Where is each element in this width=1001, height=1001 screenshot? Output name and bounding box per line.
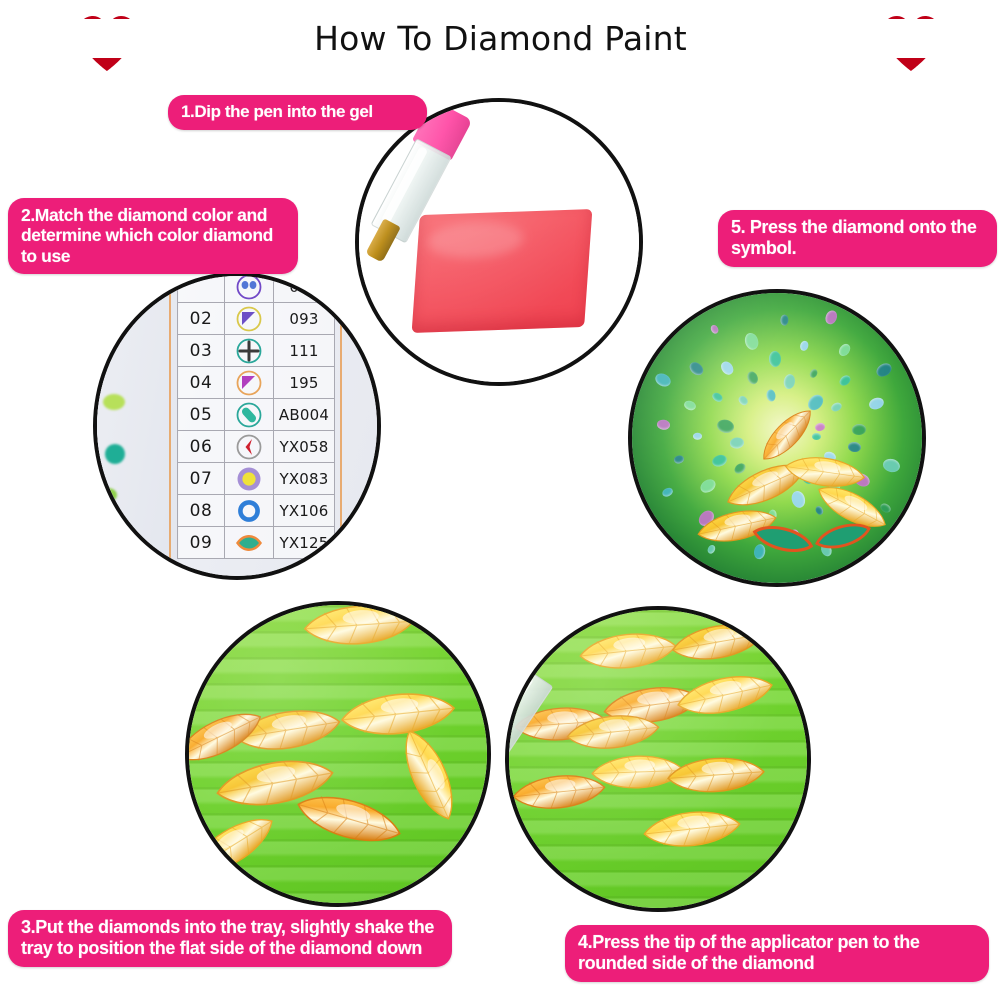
mandala-gem <box>830 401 844 413</box>
mandala-gem <box>653 371 673 389</box>
step-5-photo <box>628 289 926 587</box>
diamond-gem <box>660 748 773 802</box>
mandala-gem <box>882 458 901 474</box>
chart-row-code: 093 <box>274 303 335 335</box>
mandala-gem <box>709 323 719 334</box>
mandala-gem <box>867 396 885 412</box>
step-label-5: 5. Press the diamond onto the symbol. <box>718 210 997 267</box>
mandala-gem <box>719 360 736 377</box>
chart-row-code: AB004 <box>274 399 335 431</box>
color-chart-row: 08YX106 <box>178 495 335 527</box>
mandala-gem <box>783 373 797 390</box>
chart-row-number: 07 <box>178 463 225 495</box>
mandala-gem <box>812 433 821 440</box>
color-chart-sheet: 02002093031110419505AB00406YX05807YX0830… <box>97 276 377 576</box>
chart-row-code: YX058 <box>274 431 335 463</box>
chart-row-code: 111 <box>274 335 335 367</box>
chart-row-number: 08 <box>178 495 225 527</box>
mandala-canvas <box>632 293 922 583</box>
mandala-gem <box>746 370 760 386</box>
canvas-symbol <box>107 534 133 560</box>
color-chart-row: 09YX125 <box>178 527 335 559</box>
chart-guide-line <box>340 276 342 576</box>
mandala-gem <box>838 374 853 389</box>
mandala-gem <box>769 351 782 368</box>
color-chart-row: 06YX058 <box>178 431 335 463</box>
step-label-2: 2.Match the diamond color and determine … <box>8 198 298 274</box>
mandala-gem <box>693 433 702 440</box>
color-chart-row: 020 <box>178 272 335 303</box>
chart-row-number <box>178 272 225 303</box>
chart-row-symbol-donut-filled-circle-icon <box>225 463 274 495</box>
page-title: How To Diamond Paint <box>0 19 1001 58</box>
chart-row-number: 06 <box>178 431 225 463</box>
chart-row-code: YX125 <box>274 527 335 559</box>
chart-row-symbol-filled-triangle-circle-icon <box>225 303 274 335</box>
diamond-gem <box>635 800 749 857</box>
chart-row-code: YX106 <box>274 495 335 527</box>
chart-row-code: YX083 <box>274 463 335 495</box>
diamond-gem <box>289 779 409 859</box>
mandala-gem <box>737 394 749 406</box>
color-chart-row: 03111 <box>178 335 335 367</box>
chart-row-number: 03 <box>178 335 225 367</box>
printed-canvas-edge <box>97 276 179 576</box>
mandala-gem <box>874 361 894 380</box>
chart-row-number: 04 <box>178 367 225 399</box>
color-chart-row: 02093 <box>178 303 335 335</box>
mandala-gem <box>698 477 718 496</box>
mandala-gem-layer <box>632 293 922 583</box>
mandala-leaf <box>812 516 875 557</box>
step-label-1: 1.Dip the pen into the gel <box>168 95 427 130</box>
diamond-tray <box>189 605 487 903</box>
chart-guide-line <box>169 276 171 576</box>
canvas-symbol <box>103 394 125 410</box>
diamond-gem <box>509 765 609 819</box>
step-1-scene <box>359 102 639 382</box>
chart-row-code: 020 <box>274 272 335 303</box>
pen-tip <box>365 218 401 262</box>
step-3-photo <box>185 601 491 907</box>
chart-row-symbol-filled-triangle-circle-icon <box>225 367 274 399</box>
chart-row-symbol-ring-circle-icon <box>225 495 274 527</box>
canvas-symbol <box>99 488 117 502</box>
mandala-gem <box>799 340 809 352</box>
color-chart-row: 04195 <box>178 367 335 399</box>
diamond-tray <box>509 610 807 908</box>
color-chart-row: 05AB004 <box>178 399 335 431</box>
mandala-gem <box>852 423 867 435</box>
step-1-photo <box>355 98 643 386</box>
mandala-gem <box>710 391 724 404</box>
chart-row-symbol-plus-circle-icon <box>225 335 274 367</box>
chart-row-number: 09 <box>178 527 225 559</box>
mandala-gem <box>673 455 684 465</box>
mandala-gem <box>687 359 706 377</box>
mandala-gem <box>682 399 696 412</box>
mandala-gem <box>808 368 818 379</box>
mandala-gem <box>730 437 745 449</box>
mandala-gem <box>780 315 789 326</box>
mandala-gem <box>743 332 760 352</box>
step-label-3: 3.Put the diamonds into the tray, slight… <box>8 910 452 967</box>
chart-row-symbol-leaf-marquise-icon <box>225 527 274 559</box>
pink-gel-pad <box>412 209 593 333</box>
chart-row-number: 05 <box>178 399 225 431</box>
diamond-gem <box>297 601 420 655</box>
color-chart-body: 02002093031110419505AB00406YX05807YX0830… <box>178 272 335 559</box>
mandala-gem <box>824 309 839 326</box>
page-header: How To Diamond Paint <box>0 0 1001 78</box>
mandala-gem <box>710 453 728 469</box>
step-2-photo: 02002093031110419505AB00406YX05807YX0830… <box>93 272 381 580</box>
color-chart-row: 07YX083 <box>178 463 335 495</box>
mandala-gem <box>765 388 776 401</box>
chart-row-symbol-double-dot-circle-icon <box>225 272 274 303</box>
mandala-gem <box>836 342 852 358</box>
mandala-gem <box>715 418 734 434</box>
canvas-symbol <box>105 444 125 464</box>
chart-row-symbol-slash-oval-circle-icon <box>225 399 274 431</box>
diamond-gem <box>665 661 784 729</box>
color-chart-table: 02002093031110419505AB00406YX05807YX0830… <box>177 272 335 559</box>
step-label-4: 4.Press the tip of the applicator pen to… <box>565 925 989 982</box>
page-title-text: How To Diamond Paint <box>300 19 701 58</box>
chart-row-symbol-left-chevron-circle-icon <box>225 431 274 463</box>
chart-row-code: 195 <box>274 367 335 399</box>
tray-gem-layer <box>189 605 487 903</box>
mandala-gem <box>656 419 670 430</box>
mandala-gem <box>848 441 862 452</box>
chart-row-number: 02 <box>178 303 225 335</box>
step-4-photo <box>505 606 811 912</box>
mandala-gem <box>661 486 675 498</box>
